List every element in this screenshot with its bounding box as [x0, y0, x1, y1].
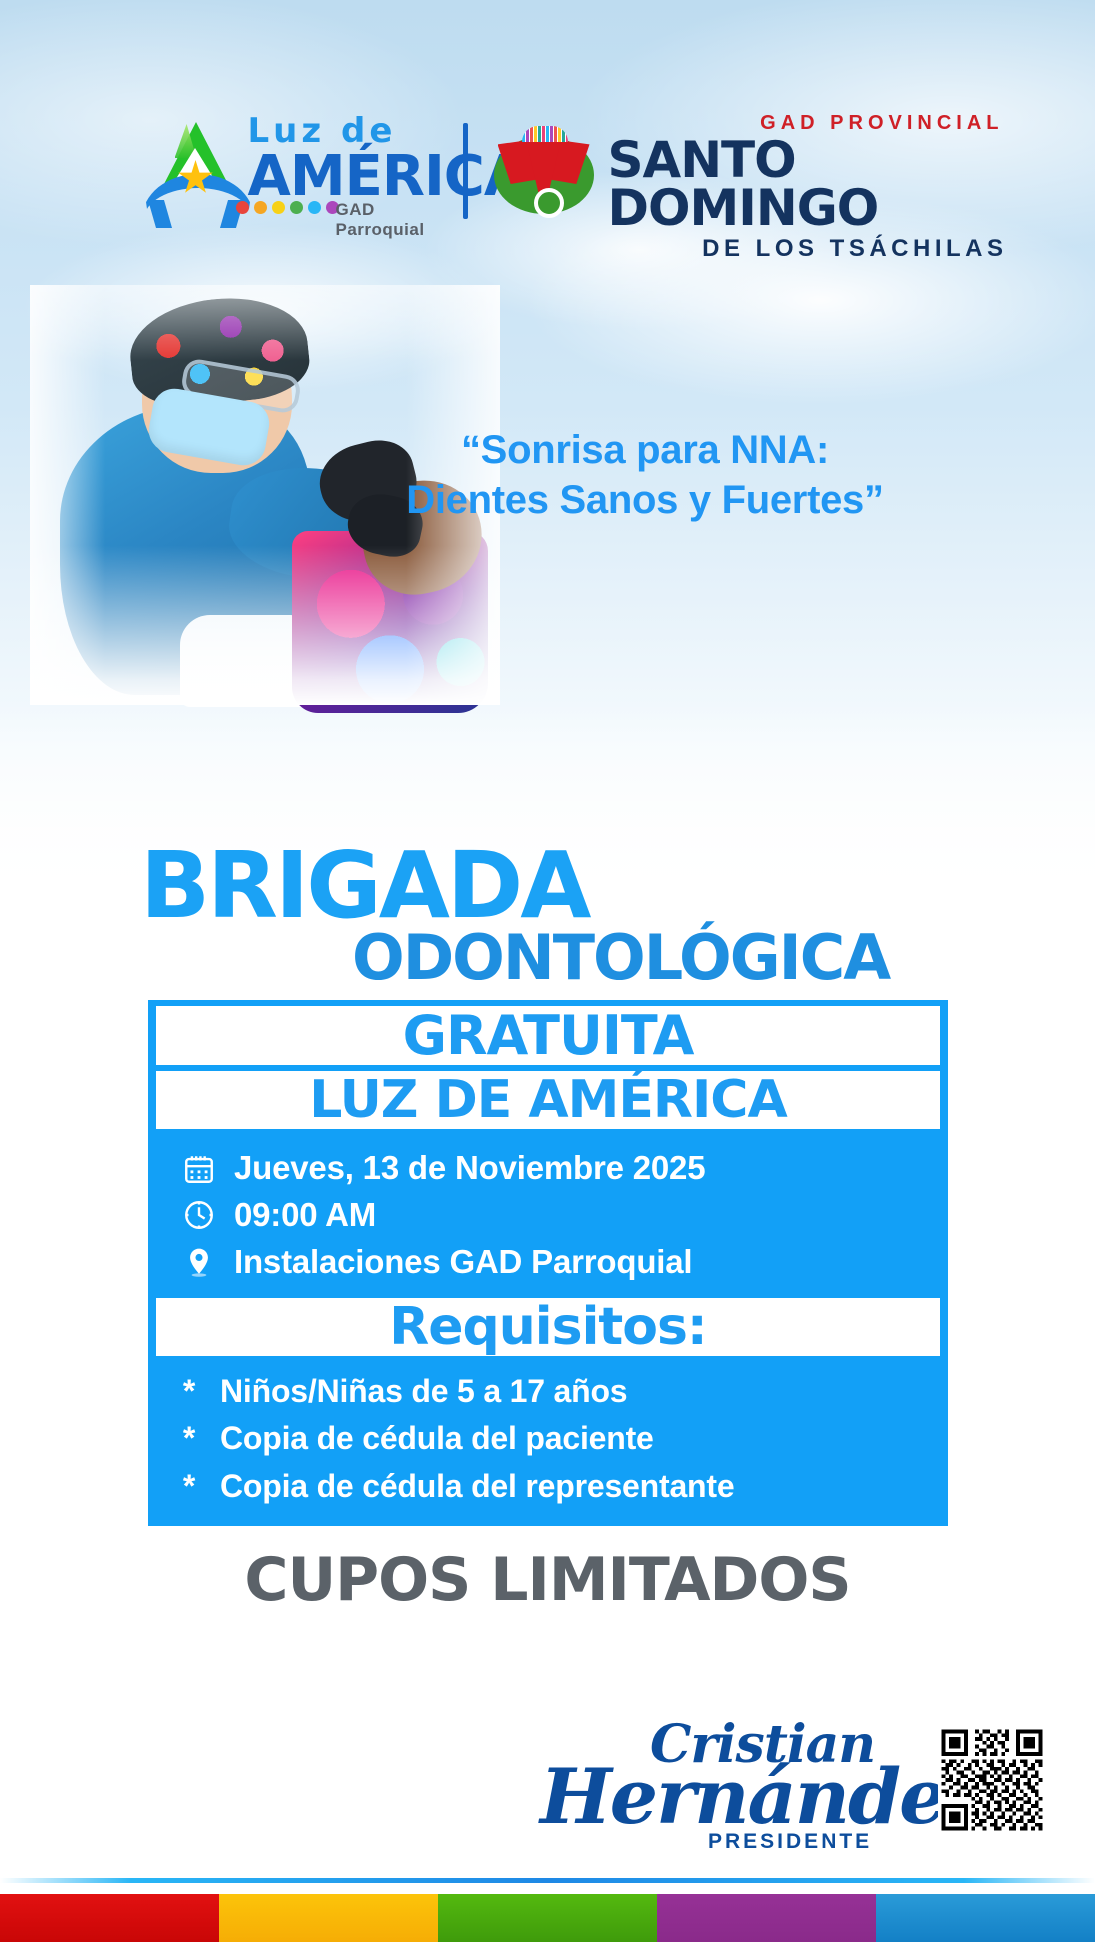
- location-pin-icon: [182, 1245, 216, 1279]
- clock-icon: [182, 1198, 216, 1232]
- requirements-list: * Niños/Niñas de 5 a 17 años * Copia de …: [148, 1362, 948, 1512]
- logo-luz-de-america: Luz de AMÉRICA GAD Parroquial: [90, 108, 445, 233]
- color-band-green: [438, 1894, 657, 1942]
- cupos-limitados: CUPOS LIMITADOS: [0, 1545, 1095, 1615]
- bullet-asterisk-icon: *: [178, 1463, 200, 1510]
- logo-right-name: SANTO DOMINGO: [608, 136, 1008, 232]
- detail-location-text: Instalaciones GAD Parroquial: [234, 1239, 692, 1286]
- band-place: LUZ DE AMÉRICA: [156, 1071, 940, 1129]
- color-band-red: [0, 1894, 219, 1942]
- title-place: LUZ DE AMÉRICA: [156, 1073, 940, 1127]
- list-item: * Copia de cédula del paciente: [178, 1415, 948, 1462]
- requirement-text: Niños/Niñas de 5 a 17 años: [220, 1368, 627, 1415]
- color-band-blue: [876, 1894, 1095, 1942]
- header-logos: Luz de AMÉRICA GAD Parroquial GAD PROVIN…: [0, 108, 1095, 233]
- title-gratuita: GRATUITA: [156, 1008, 940, 1063]
- signature-last-name: Hernández: [540, 1752, 987, 1841]
- logo-santo-domingo: GAD PROVINCIAL SANTO DOMINGO DE LOS TSÁC…: [486, 108, 1006, 233]
- slogan-line-1: “Sonrisa para NNA:: [400, 425, 890, 475]
- detail-time-text: 09:00 AM: [234, 1192, 376, 1239]
- logo-right-text: GAD PROVINCIAL SANTO DOMINGO DE LOS TSÁC…: [608, 112, 1008, 263]
- campaign-slogan: “Sonrisa para NNA: Dientes Sanos y Fuert…: [400, 425, 890, 525]
- band-requisitos: Requisitos:: [156, 1298, 940, 1356]
- color-band-yellow: [219, 1894, 438, 1942]
- title-brigada: BRIGADA: [140, 845, 588, 928]
- bullet-asterisk-icon: *: [178, 1368, 200, 1415]
- list-item: * Copia de cédula del representante: [178, 1463, 948, 1510]
- signature-block: Cristian Hernández PRESIDENTE: [540, 1718, 880, 1858]
- title-requisitos: Requisitos:: [156, 1300, 940, 1354]
- footer-color-bar: [0, 1894, 1095, 1942]
- requirement-text: Copia de cédula del paciente: [220, 1415, 654, 1462]
- bullet-asterisk-icon: *: [178, 1415, 200, 1462]
- info-card: GRATUITA LUZ DE AMÉRICA: [148, 1000, 948, 1526]
- band-gratuita: GRATUITA: [156, 1006, 940, 1065]
- signature-role: PRESIDENTE: [708, 1830, 872, 1854]
- luz-de-america-mark-icon: [142, 122, 250, 214]
- footer-accent-line: [0, 1878, 1095, 1883]
- qr-code[interactable]: [938, 1726, 1046, 1834]
- logo-left-line1: Luz de: [248, 114, 527, 148]
- poster-root: Luz de AMÉRICA GAD Parroquial GAD PROVIN…: [0, 0, 1095, 1942]
- title-odontologica: ODONTOLÓGICA: [352, 930, 889, 986]
- logo-left-text: Luz de AMÉRICA: [248, 114, 527, 203]
- logo-left-line2: AMÉRICA: [248, 150, 527, 203]
- slogan-line-2: Dientes Sanos y Fuertes”: [400, 475, 890, 525]
- logo-left-dots: [236, 201, 339, 214]
- calendar-icon: [182, 1152, 216, 1186]
- logo-right-subtitle: DE LOS TSÁCHILAS: [608, 235, 1008, 263]
- detail-row-location: Instalaciones GAD Parroquial: [182, 1239, 948, 1286]
- santo-domingo-mark-icon: [492, 118, 596, 218]
- detail-date-text: Jueves, 13 de Noviembre 2025: [234, 1145, 705, 1192]
- color-band-purple: [657, 1894, 876, 1942]
- requirement-text: Copia de cédula del representante: [220, 1463, 734, 1510]
- event-details: Jueves, 13 de Noviembre 2025 09:00 AM: [148, 1135, 948, 1292]
- detail-row-time: 09:00 AM: [182, 1192, 948, 1239]
- detail-row-date: Jueves, 13 de Noviembre 2025: [182, 1145, 948, 1192]
- list-item: * Niños/Niñas de 5 a 17 años: [178, 1368, 948, 1415]
- logo-left-subtitle: GAD Parroquial: [336, 200, 445, 240]
